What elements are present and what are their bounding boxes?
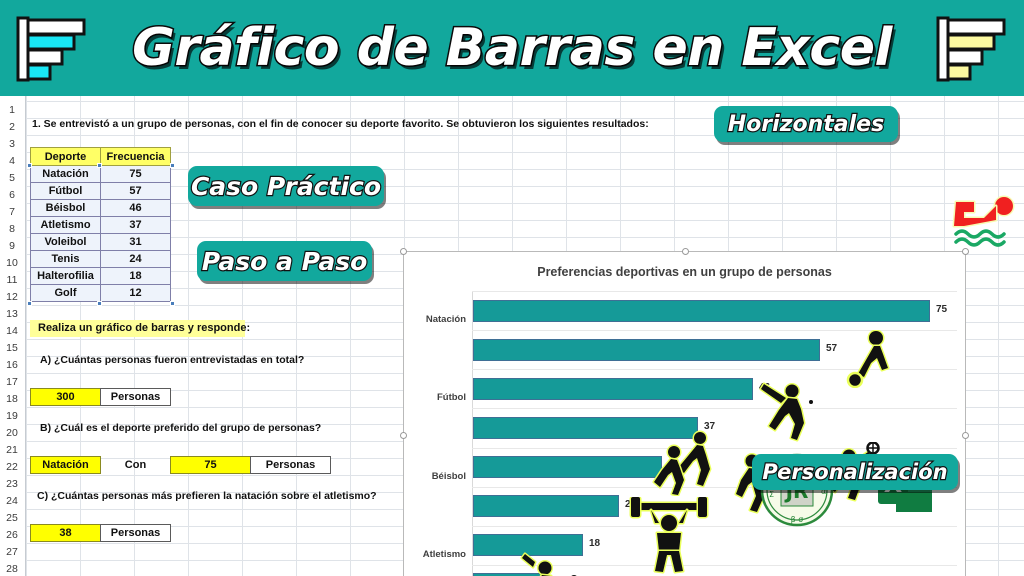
frequency-table[interactable]: Deporte Frecuencia Natación75Fútbol57Béi… bbox=[30, 147, 171, 302]
row-number[interactable]: 28 bbox=[0, 563, 24, 575]
chart-bar[interactable]: Fútbol bbox=[473, 339, 820, 361]
row-number[interactable]: 17 bbox=[0, 376, 24, 388]
table-body: Natación75Fútbol57Béisbol46Atletismo37Vo… bbox=[31, 166, 171, 302]
row-number[interactable]: 14 bbox=[0, 325, 24, 337]
chart-title: Preferencias deportivas en un grupo de p… bbox=[404, 265, 965, 279]
row-number[interactable]: 10 bbox=[0, 257, 24, 269]
row-number[interactable]: 4 bbox=[0, 155, 24, 167]
selection-handle[interactable] bbox=[97, 301, 102, 306]
chart-data-label: 24 bbox=[625, 499, 636, 510]
row-number[interactable]: 16 bbox=[0, 359, 24, 371]
chart-gridline bbox=[472, 369, 957, 370]
screenshot-root: Gráfico de Barras en Excel 1234567891011… bbox=[0, 0, 1024, 576]
cell-frecuencia[interactable]: 12 bbox=[101, 285, 171, 302]
badge-paso-a-paso-label: Paso a Paso bbox=[202, 247, 368, 276]
chart-bar[interactable]: Béisbol bbox=[473, 378, 753, 400]
table-row[interactable]: Atletismo37 bbox=[31, 217, 171, 234]
answer-a-value[interactable]: 300 bbox=[30, 388, 101, 406]
row-number[interactable]: 8 bbox=[0, 223, 24, 235]
chart-resize-handle[interactable] bbox=[962, 248, 969, 255]
badge-horizontales: Horizontales bbox=[714, 106, 898, 142]
chart-category-label: Béisbol bbox=[432, 471, 466, 482]
spreadsheet-area[interactable]: 1234567891011121314151617181920212223242… bbox=[0, 96, 1024, 576]
chart-bar[interactable]: Atletismo bbox=[473, 417, 698, 439]
chart-gridline bbox=[472, 330, 957, 331]
chart-resize-handle[interactable] bbox=[962, 432, 969, 439]
instruction-text: Realiza un gráfico de barras y responde: bbox=[30, 320, 245, 337]
chart-resize-handle[interactable] bbox=[682, 248, 689, 255]
table-row[interactable]: Béisbol46 bbox=[31, 200, 171, 217]
bar-chart-icon bbox=[930, 14, 1014, 84]
row-number[interactable]: 5 bbox=[0, 172, 24, 184]
answer-c-value[interactable]: 38 bbox=[30, 524, 101, 542]
badge-paso-a-paso: Paso a Paso bbox=[197, 241, 372, 281]
chart-resize-handle[interactable] bbox=[400, 248, 407, 255]
cell-frecuencia[interactable]: 37 bbox=[101, 217, 171, 234]
chart-gridline bbox=[472, 408, 957, 409]
question-a-text: A) ¿Cuántas personas fueron entrevistada… bbox=[40, 354, 304, 366]
cell-deporte[interactable]: Atletismo bbox=[31, 217, 101, 234]
cell-deporte[interactable]: Halterofilia bbox=[31, 268, 101, 285]
chart-data-label: 46 bbox=[759, 382, 770, 393]
chart-category-label: Atletismo bbox=[423, 549, 466, 560]
cell-deporte[interactable]: Voleibol bbox=[31, 234, 101, 251]
row-number[interactable]: 21 bbox=[0, 444, 24, 456]
selection-handle[interactable] bbox=[27, 301, 32, 306]
row-number[interactable]: 27 bbox=[0, 546, 24, 558]
cell-frecuencia[interactable]: 18 bbox=[101, 268, 171, 285]
cell-deporte[interactable]: Béisbol bbox=[31, 200, 101, 217]
cell-frecuencia[interactable]: 31 bbox=[101, 234, 171, 251]
answer-c-unit[interactable]: Personas bbox=[100, 524, 171, 542]
chart-plot-area: Natación75Fútbol57Béisbol46Atletismo37Vo… bbox=[472, 291, 957, 576]
badge-horizontales-label: Horizontales bbox=[728, 112, 884, 137]
row-number[interactable]: 11 bbox=[0, 274, 24, 286]
cell-deporte[interactable]: Tenis bbox=[31, 251, 101, 268]
chart-data-label: 18 bbox=[589, 538, 600, 549]
chart-category-label: Natación bbox=[426, 314, 466, 325]
chart-data-label: 57 bbox=[826, 343, 837, 354]
table-row[interactable]: Golf12 bbox=[31, 285, 171, 302]
column-header-frecuencia: Frecuencia bbox=[101, 148, 171, 166]
row-number[interactable]: 13 bbox=[0, 308, 24, 320]
row-number[interactable]: 9 bbox=[0, 240, 24, 252]
row-number[interactable]: 23 bbox=[0, 478, 24, 490]
cell-frecuencia[interactable]: 57 bbox=[101, 183, 171, 200]
chart-gridline bbox=[472, 291, 957, 292]
row-number[interactable]: 3 bbox=[0, 138, 24, 150]
chart-category-label: Fútbol bbox=[437, 392, 466, 403]
row-number[interactable]: 26 bbox=[0, 529, 24, 541]
table-row[interactable]: Tenis24 bbox=[31, 251, 171, 268]
chart-bar[interactable]: Natación bbox=[473, 300, 930, 322]
cell-frecuencia[interactable]: 24 bbox=[101, 251, 171, 268]
chart-gridline bbox=[472, 565, 957, 566]
question-c-text: C) ¿Cuántas personas más prefieren la na… bbox=[37, 490, 377, 502]
answer-b-sport[interactable]: Natación bbox=[30, 456, 101, 474]
cell-deporte[interactable]: Natación bbox=[31, 166, 101, 183]
badge-caso-practico-label: Caso Práctico bbox=[191, 172, 381, 201]
row-number[interactable]: 6 bbox=[0, 189, 24, 201]
chart-data-label: 37 bbox=[704, 421, 715, 432]
question-b-text: B) ¿Cuál es el deporte preferido del gru… bbox=[40, 422, 321, 434]
row-number[interactable]: 18 bbox=[0, 393, 24, 405]
intro-text: 1. Se entrevistó a un grupo de personas,… bbox=[32, 118, 649, 130]
chart-resize-handle[interactable] bbox=[400, 432, 407, 439]
chart-gridline bbox=[472, 448, 957, 449]
column-header-deporte: Deporte bbox=[31, 148, 101, 166]
badge-caso-practico: Caso Práctico bbox=[188, 166, 384, 206]
row-number[interactable]: 15 bbox=[0, 342, 24, 354]
badge-personalizacion-label: Personalización bbox=[762, 460, 947, 484]
bar-chart[interactable]: Preferencias deportivas en un grupo de p… bbox=[403, 251, 966, 576]
chart-bar[interactable]: Voleibol bbox=[473, 456, 662, 478]
table-row[interactable]: Halterofilia18 bbox=[31, 268, 171, 285]
row-number[interactable]: 25 bbox=[0, 512, 24, 524]
answer-b-value[interactable]: 75 bbox=[170, 456, 251, 474]
badge-personalizacion: Personalización bbox=[752, 454, 958, 490]
answer-b-connector: Con bbox=[100, 456, 171, 474]
row-number[interactable]: 1 bbox=[0, 104, 24, 116]
selection-handle[interactable] bbox=[27, 163, 32, 168]
selection-handle[interactable] bbox=[97, 163, 102, 168]
chart-bar[interactable]: Halterofilia bbox=[473, 534, 583, 556]
cell-deporte[interactable]: Golf bbox=[31, 285, 101, 302]
cell-deporte[interactable]: Fútbol bbox=[31, 183, 101, 200]
chart-bar[interactable]: Tenis bbox=[473, 495, 619, 517]
cell-frecuencia[interactable]: 46 bbox=[101, 200, 171, 217]
bar-chart-icon bbox=[10, 14, 94, 84]
row-number[interactable]: 22 bbox=[0, 461, 24, 473]
page-title: Gráfico de Barras en Excel bbox=[132, 22, 892, 74]
row-number[interactable]: 19 bbox=[0, 410, 24, 422]
cell-frecuencia[interactable]: 75 bbox=[101, 166, 171, 183]
row-number[interactable]: 24 bbox=[0, 495, 24, 507]
chart-data-label: 75 bbox=[936, 304, 947, 315]
row-number[interactable]: 7 bbox=[0, 206, 24, 218]
answer-a-unit[interactable]: Personas bbox=[100, 388, 171, 406]
table-row[interactable]: Voleibol31 bbox=[31, 234, 171, 251]
swimming-pictogram bbox=[952, 192, 1022, 250]
selection-handle[interactable] bbox=[170, 301, 175, 306]
row-number[interactable]: 2 bbox=[0, 121, 24, 133]
title-banner: Gráfico de Barras en Excel bbox=[0, 0, 1024, 96]
row-number[interactable]: 20 bbox=[0, 427, 24, 439]
chart-data-label: 31 bbox=[668, 460, 679, 471]
table-row[interactable]: Fútbol57 bbox=[31, 183, 171, 200]
chart-gridline bbox=[472, 526, 957, 527]
table-row[interactable]: Natación75 bbox=[31, 166, 171, 183]
selection-handle[interactable] bbox=[170, 163, 175, 168]
answer-b-unit[interactable]: Personas bbox=[250, 456, 331, 474]
row-number[interactable]: 12 bbox=[0, 291, 24, 303]
